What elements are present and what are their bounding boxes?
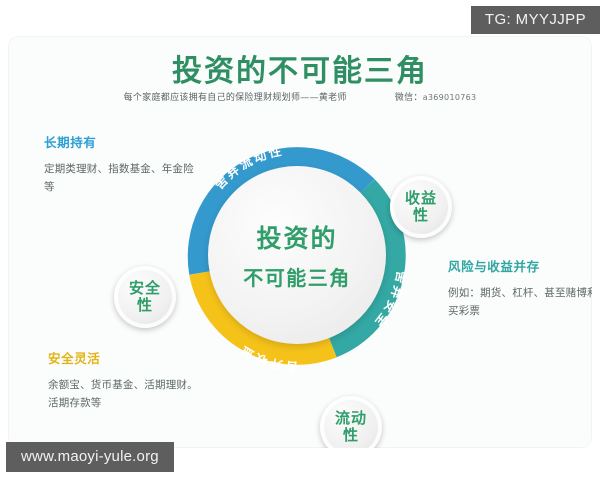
badge-liquidity-line1: 流动 (335, 410, 367, 427)
badge-liquidity: 流动 性 (320, 396, 382, 448)
copy-body-risk-return: 例如：期货、杠杆、甚至赌博和买彩票 (448, 284, 592, 321)
donut-center-line1: 投资的 (256, 219, 337, 255)
badge-safety: 安全 性 (114, 266, 176, 328)
page-root: 投资的不可能三角 每个家庭都应该拥有自己的保险理财规划师——黄老师 微信：a36… (0, 0, 600, 480)
page-title: 投资的不可能三角 (8, 46, 592, 90)
badge-yield-line2: 性 (413, 207, 429, 224)
donut-diagram: 舍弃流动性 舍弃安全 舍弃收益 投资的 不可能三角 (166, 124, 428, 386)
donut-center-line2: 不可能三角 (243, 262, 351, 291)
infographic-card: 投资的不可能三角 每个家庭都应该拥有自己的保险理财规划师——黄老师 微信：a36… (8, 36, 592, 448)
wechat-contact: 微信：a369010763 (395, 90, 477, 103)
badge-yield-line1: 收益 (405, 190, 437, 207)
site-watermark-tag: www.maoyi-yule.org (6, 442, 174, 472)
tg-watermark-tag: TG: MYYJJPP (471, 6, 600, 34)
copy-head-risk-return: 风险与收益并存 (448, 256, 592, 275)
badge-yield: 收益 性 (390, 176, 452, 238)
badge-safety-line1: 安全 (129, 280, 161, 297)
badge-liquidity-line2: 性 (343, 427, 359, 444)
badge-safety-line2: 性 (137, 297, 153, 314)
subtitle-row: 每个家庭都应该拥有自己的保险理财规划师——黄老师 微信：a369010763 (8, 90, 592, 103)
donut-center-plate: 投资的 不可能三角 (208, 166, 386, 344)
wechat-id: a369010763 (423, 93, 477, 102)
wechat-label: 微信： (395, 93, 423, 103)
subtitle-text: 每个家庭都应该拥有自己的保险理财规划师——黄老师 (124, 90, 347, 103)
copy-block-risk-return: 风险与收益并存 例如：期货、杠杆、甚至赌博和买彩票 (448, 256, 592, 321)
